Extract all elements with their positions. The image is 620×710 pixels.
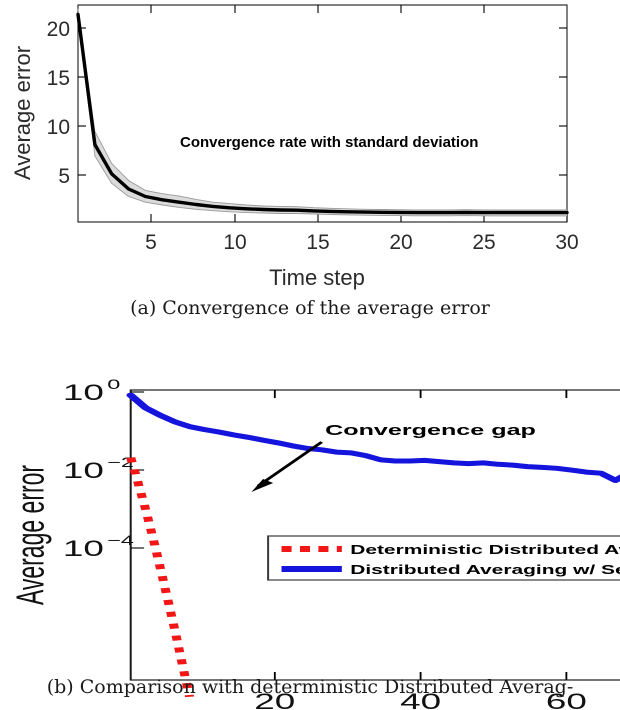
panel-a-xtick-25: 25: [472, 231, 495, 254]
panel-b-ytick-10p0: 10 0: [63, 377, 120, 405]
panel-a-svg: 20 15 10 5 5 10 15 20 25: [0, 0, 620, 300]
panel-a-caption: (a) Convergence of the average error: [0, 297, 620, 319]
svg-text:10: 10: [63, 459, 104, 483]
legend-label-sequential: Distributed Averaging w/ Sequential Obse…: [350, 562, 620, 576]
panel-a-xtick-20: 20: [389, 231, 412, 254]
svg-text:0: 0: [107, 377, 120, 392]
panel-a-ytick-5: 5: [58, 165, 70, 188]
panel-b-ylabel: Average error: [8, 465, 52, 605]
panel-a-ytick-10: 10: [47, 116, 70, 139]
panel-a-ytick-15: 15: [47, 67, 70, 90]
panel-a-xtick-10: 10: [223, 231, 246, 254]
panel-b-caption: (b) Comparison with deterministic Distri…: [0, 676, 620, 698]
panel-b-ytick-10m4: 10 −4: [63, 533, 134, 561]
panel-a-xtick-5: 5: [145, 231, 157, 254]
chart-panel-b: 10 0 10 −2 10 −4: [0, 340, 620, 710]
panel-a-xtick-15: 15: [306, 231, 329, 254]
chart-panel-a: 20 15 10 5 5 10 15 20 25: [0, 0, 620, 300]
panel-b-svg: 10 0 10 −2 10 −4: [0, 340, 620, 710]
panel-a-xtick-30: 30: [555, 231, 578, 254]
panel-a-xlabel: Time step: [269, 265, 365, 290]
panel-b-ytick-10m2: 10 −2: [63, 455, 134, 483]
svg-text:−4: −4: [107, 533, 134, 548]
panel-a-plot-frame: [78, 5, 567, 222]
panel-a-ylabel: Average error: [10, 46, 35, 180]
legend-label-deterministic: Deterministic Distributed Averaging: [350, 542, 620, 556]
figure-root: 20 15 10 5 5 10 15 20 25: [0, 0, 620, 710]
panel-b-legend: Deterministic Distributed Averaging Dist…: [268, 536, 620, 580]
panel-a-annotation: Convergence rate with standard deviation: [180, 134, 478, 151]
panel-b-annotation: Convergence gap: [325, 422, 536, 439]
svg-text:10: 10: [63, 537, 104, 561]
svg-text:10: 10: [63, 381, 104, 405]
panel-a-ytick-20: 20: [47, 18, 70, 41]
